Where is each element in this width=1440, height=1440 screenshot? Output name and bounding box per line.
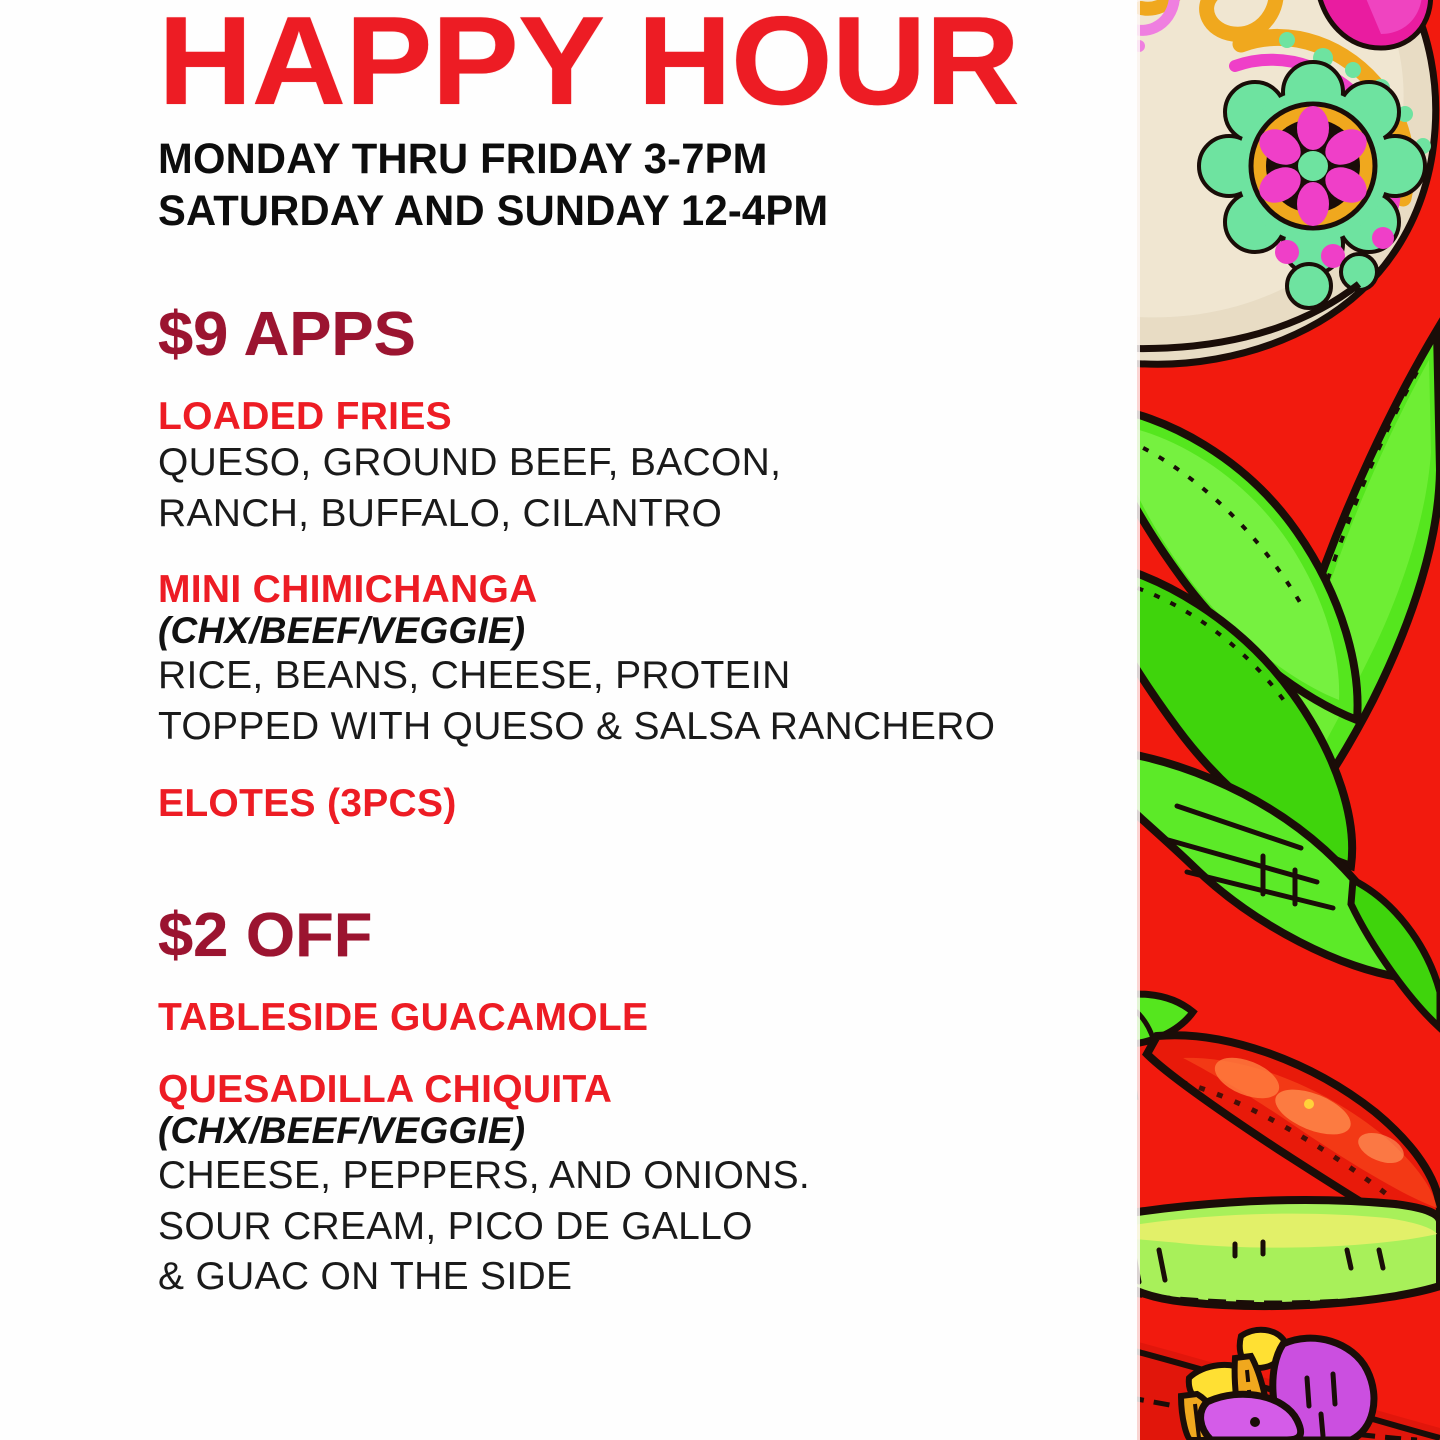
page-title: HAPPY HOUR: [158, 6, 1137, 117]
menu-item-mini-chimichanga: MINI CHIMICHANGA (CHX/BEEF/VEGGIE) RICE,…: [158, 569, 1137, 752]
menu-item-description-line: RANCH, BUFFALO, CILANTRO: [158, 489, 1137, 540]
schedule-line-weekday: MONDAY THRU FRIDAY 3-7PM: [158, 133, 1108, 185]
menu-item-description-line: SOUR CREAM, PICO DE GALLO: [158, 1202, 1137, 1253]
section-apps: $9 APPS LOADED FRIES QUESO, GROUND BEEF,…: [158, 304, 1137, 825]
happy-hour-schedule: MONDAY THRU FRIDAY 3-7PM SATURDAY AND SU…: [158, 133, 1137, 238]
menu-item-name: TABLESIDE GUACAMOLE: [158, 997, 1137, 1039]
section-heading-apps: $9 APPS: [158, 304, 1137, 366]
menu-item-variants: (CHX/BEEF/VEGGIE): [158, 611, 1137, 651]
menu-item-name: MINI CHIMICHANGA: [158, 569, 1137, 611]
menu-item-description-line: CHEESE, PEPPERS, AND ONIONS.: [158, 1151, 1137, 1202]
menu-item-name: LOADED FRIES: [158, 396, 1137, 438]
menu-item-quesadilla-chiquita: QUESADILLA CHIQUITA (CHX/BEEF/VEGGIE) CH…: [158, 1069, 1137, 1303]
menu-item-description: RICE, BEANS, CHEESE, PROTEIN TOPPED WITH…: [158, 651, 1137, 752]
menu-item-loaded-fries: LOADED FRIES QUESO, GROUND BEEF, BACON, …: [158, 396, 1137, 539]
menu-item-tableside-guacamole: TABLESIDE GUACAMOLE: [158, 997, 1137, 1039]
menu-panel: HAPPY HOUR MONDAY THRU FRIDAY 3-7PM SATU…: [0, 0, 1137, 1440]
sugar-skull-artwork: [1137, 0, 1440, 1440]
schedule-line-weekend: SATURDAY AND SUNDAY 12-4PM: [158, 185, 1108, 237]
menu-item-name: QUESADILLA CHIQUITA: [158, 1069, 1137, 1111]
menu-item-description-line: QUESO, GROUND BEEF, BACON,: [158, 438, 1137, 489]
calavera-peppers-illustration: [1137, 0, 1440, 1440]
menu-item-description: CHEESE, PEPPERS, AND ONIONS. SOUR CREAM,…: [158, 1151, 1137, 1303]
section-two-dollars-off: $2 OFF TABLESIDE GUACAMOLE QUESADILLA CH…: [158, 905, 1137, 1303]
menu-item-description-line: RICE, BEANS, CHEESE, PROTEIN: [158, 651, 1137, 702]
yellow-green-chili: [1137, 1200, 1440, 1306]
menu-item-variants: (CHX/BEEF/VEGGIE): [158, 1111, 1137, 1151]
menu-item-elotes: ELOTES (3PCS): [158, 783, 1137, 825]
menu-item-description-line: TOPPED WITH QUESO & SALSA RANCHERO: [158, 702, 1137, 753]
menu-item-description: QUESO, GROUND BEEF, BACON, RANCH, BUFFAL…: [158, 438, 1137, 539]
menu-item-description-line: & GUAC ON THE SIDE: [158, 1252, 1137, 1303]
happy-hour-poster: HAPPY HOUR MONDAY THRU FRIDAY 3-7PM SATU…: [0, 0, 1440, 1440]
section-heading-two-dollars-off: $2 OFF: [158, 905, 1137, 967]
menu-item-name: ELOTES (3PCS): [158, 783, 1137, 825]
